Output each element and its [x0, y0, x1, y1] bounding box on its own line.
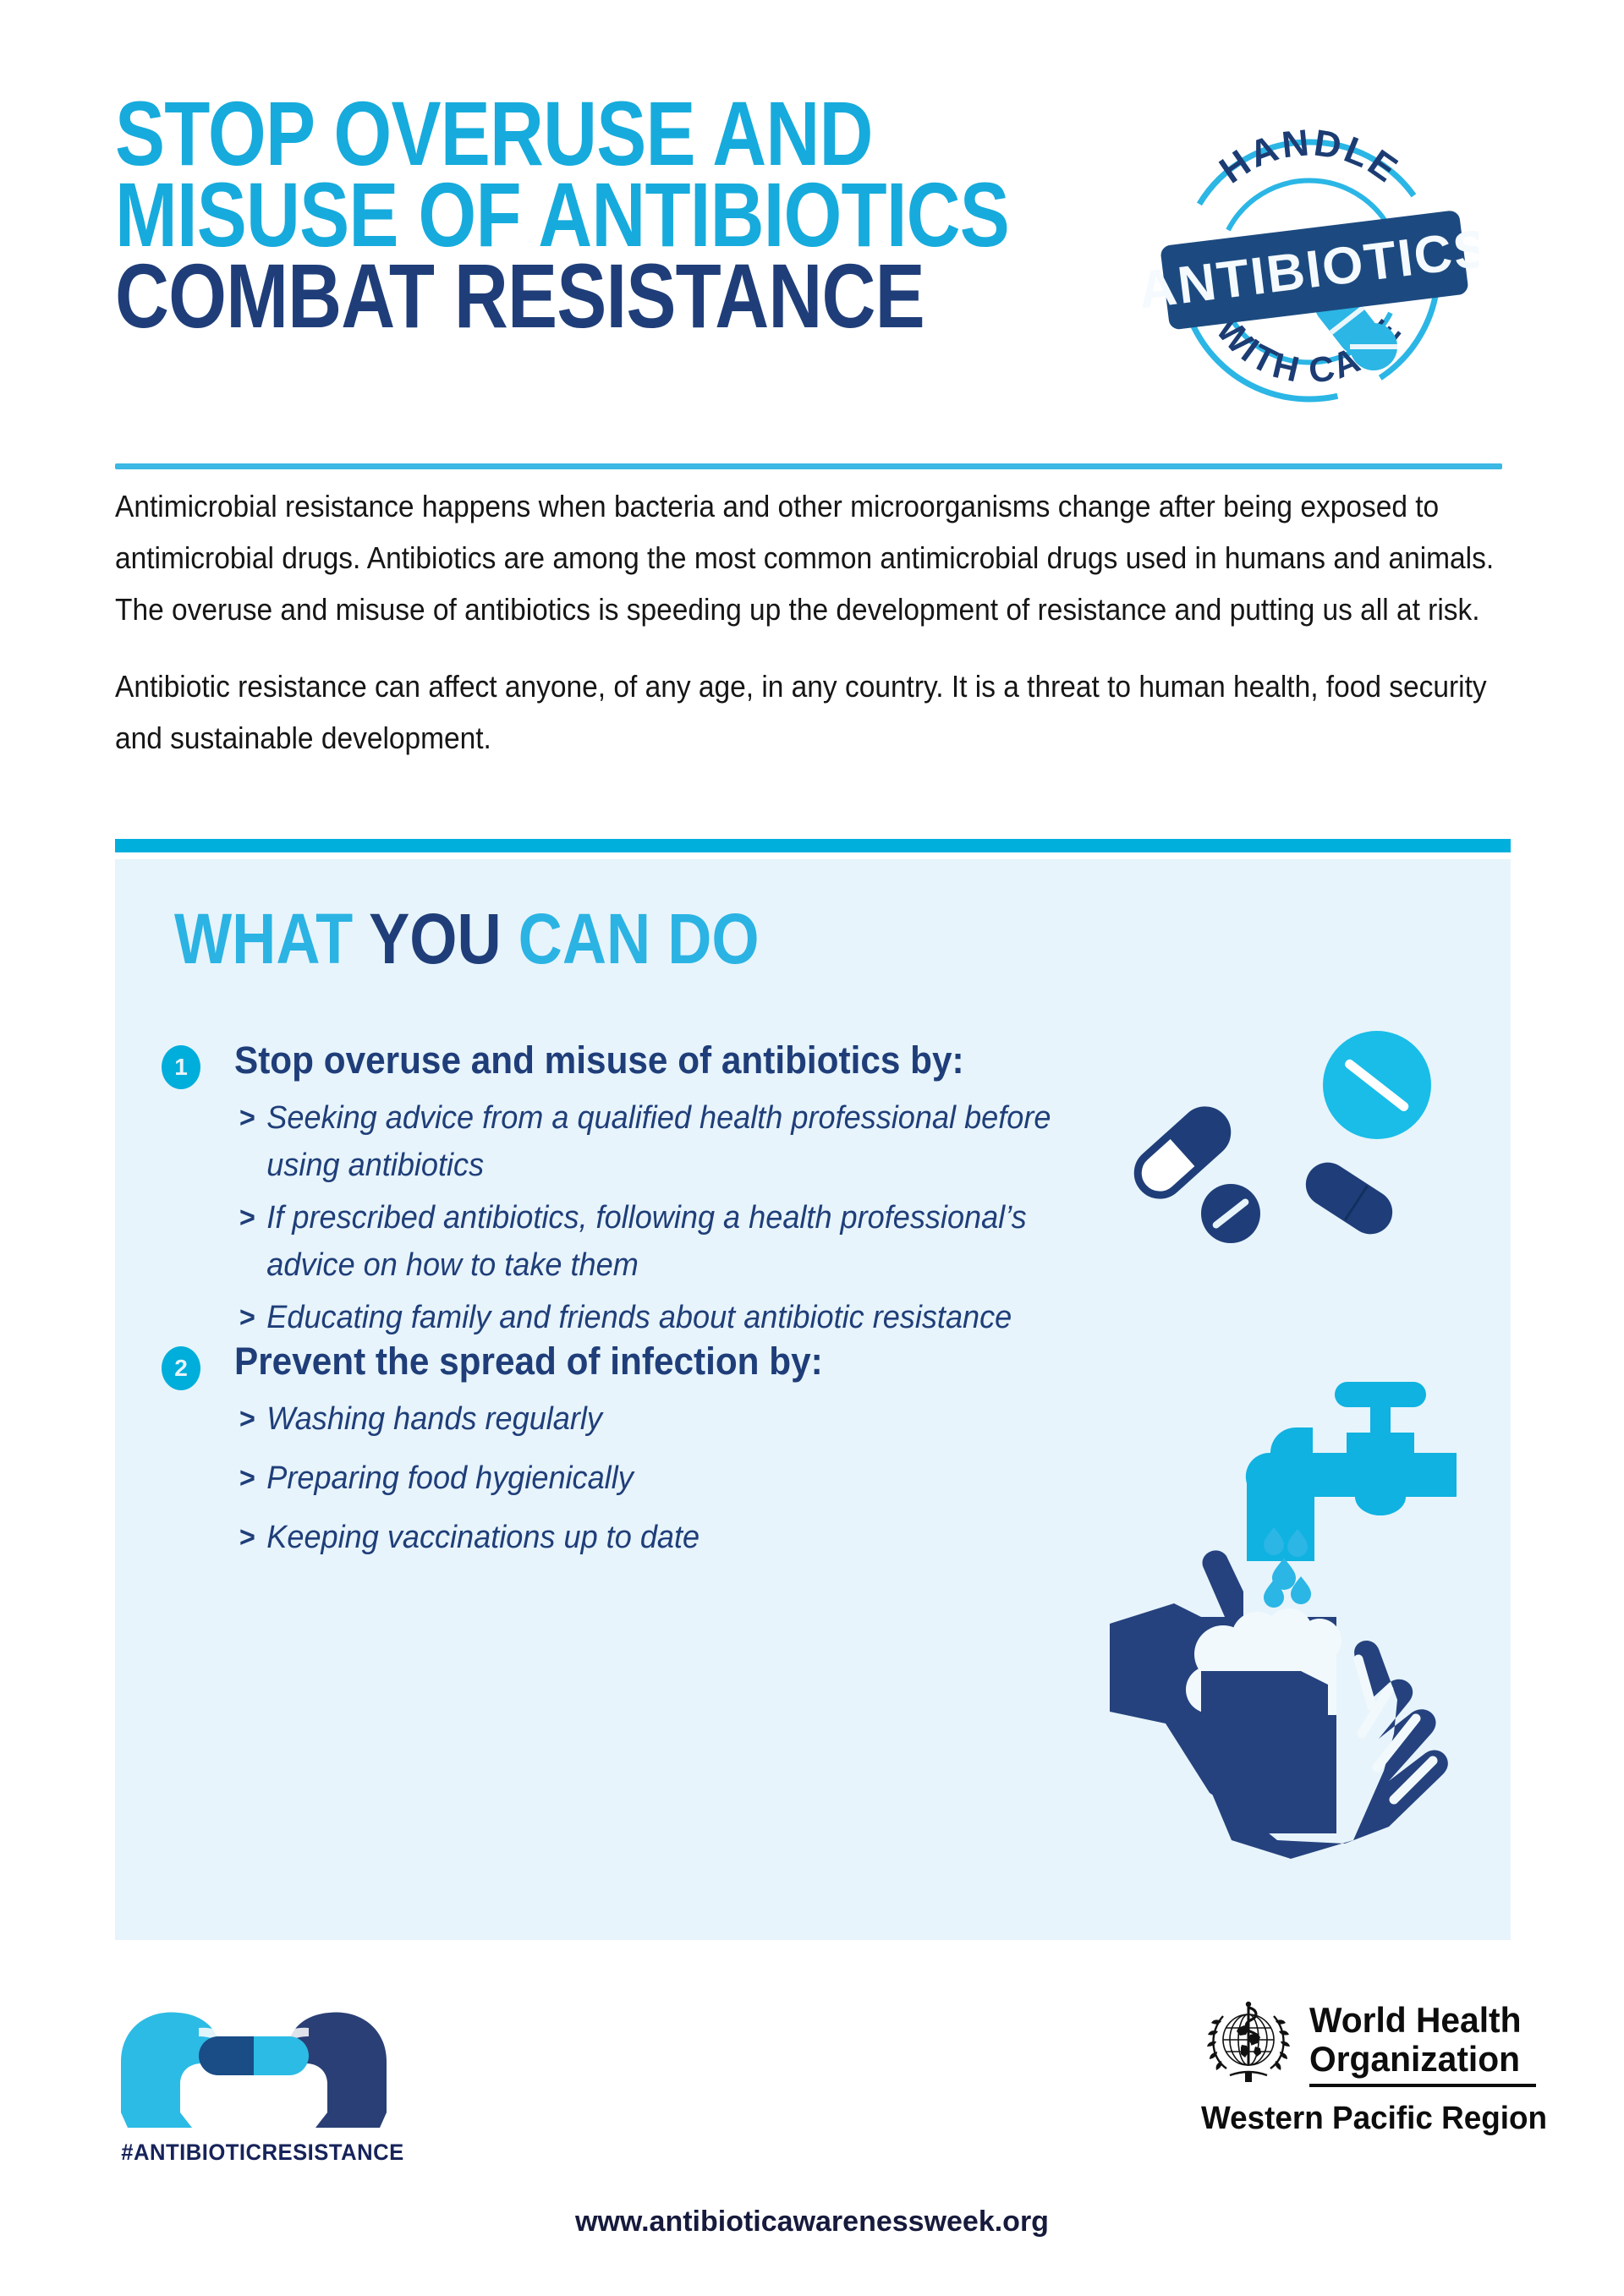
who-rule — [1309, 2084, 1536, 2087]
panel-heading: WHAT YOU CAN DO — [174, 903, 760, 974]
bullet-text: Keeping vaccinations up to date — [266, 1520, 700, 1555]
bullet-text: Washing hands regularly — [266, 1401, 602, 1437]
tablet-cyan-icon — [1323, 1031, 1431, 1139]
bullet-text: Preparing food hygienically — [266, 1460, 633, 1496]
bullet-text: Educating family and friends about antib… — [266, 1300, 1012, 1335]
list-item: >If prescribed antibiotics, following a … — [239, 1194, 1086, 1289]
step-2-bullet-list: >Washing hands regularly >Preparing food… — [239, 1395, 1007, 1561]
step-2: 2 Prevent the spread of infection by: >W… — [162, 1340, 1007, 1573]
capsule-dark-icon — [1298, 1154, 1401, 1243]
intro-paragraph-1: Antimicrobial resistance happens when ba… — [115, 480, 1500, 635]
panel-heading-part-1: WHAT — [174, 899, 369, 978]
who-region-label: Western Pacific Region — [1201, 2101, 1513, 2136]
chevron-right-icon: > — [239, 1294, 255, 1341]
bullet-text: Seeking advice from a qualified health p… — [266, 1100, 1051, 1183]
who-line-2: Organization — [1309, 2040, 1529, 2079]
chevron-right-icon: > — [239, 1455, 255, 1502]
who-logo: World Health Organization Western Pacifi… — [1201, 1997, 1522, 2167]
panel-heading-part-2: YOU — [369, 899, 518, 978]
section-divider-bar — [115, 839, 1511, 852]
panel-heading-part-3: CAN DO — [518, 899, 760, 978]
list-item: >Washing hands regularly — [239, 1395, 1086, 1443]
intro-text: Antimicrobial resistance happens when ba… — [115, 480, 1502, 789]
list-item: >Educating family and friends about anti… — [239, 1294, 1086, 1341]
list-item: >Keeping vaccinations up to date — [239, 1514, 1086, 1561]
poster-header: STOP OVERUSE AND MISUSE OF ANTIBIOTICS C… — [0, 0, 1624, 474]
who-line-1: World Health — [1309, 2001, 1529, 2040]
poster-title: STOP OVERUSE AND MISUSE OF ANTIBIOTICS C… — [115, 93, 1113, 337]
header-divider — [115, 463, 1502, 469]
tablet-dark-icon — [1201, 1184, 1260, 1243]
title-line-1: STOP OVERUSE AND — [115, 93, 934, 174]
intro-paragraph-2: Antibiotic resistance can affect anyone,… — [115, 660, 1500, 764]
who-emblem-icon — [1201, 1997, 1296, 2092]
poster-root: STOP OVERUSE AND MISUSE OF ANTIBIOTICS C… — [0, 0, 1624, 2296]
chevron-right-icon: > — [239, 1395, 255, 1443]
handle-with-care-badge: HANDLE WITH CARE — [1140, 95, 1479, 425]
footer-url: www.antibioticawarenessweek.org — [0, 2206, 1624, 2238]
handwashing-illustration — [1074, 1370, 1497, 1860]
title-line-3: COMBAT RESISTANCE — [115, 255, 934, 337]
chevron-right-icon: > — [239, 1094, 255, 1142]
title-line-2: MISUSE OF ANTIBIOTICS — [115, 174, 934, 255]
chevron-right-icon: > — [239, 1514, 255, 1561]
step-1-number: 1 — [162, 1045, 200, 1089]
step-2-number: 2 — [162, 1346, 200, 1390]
capsule-logo-icon — [199, 2036, 309, 2075]
pills-illustration — [1091, 1011, 1463, 1307]
chevron-right-icon: > — [239, 1194, 255, 1241]
step-1-bullet-list: >Seeking advice from a qualified health … — [239, 1094, 1007, 1341]
list-item: >Seeking advice from a qualified health … — [239, 1094, 1086, 1189]
step-2-heading: Prevent the spread of infection by: — [234, 1340, 961, 1384]
badge-tablet-icon — [1350, 323, 1397, 370]
hashtag-label: #ANTIBIOTICRESISTANCE — [121, 2140, 387, 2166]
step-1: 1 Stop overuse and misuse of antibiotics… — [162, 1038, 1007, 1346]
bullet-text: If prescribed antibiotics, following a h… — [266, 1200, 1026, 1283]
list-item: >Preparing food hygienically — [239, 1455, 1086, 1502]
antibiotic-resistance-logo: #ANTIBIOTICRESISTANCE — [114, 2003, 393, 2172]
step-1-heading: Stop overuse and misuse of antibiotics b… — [234, 1038, 961, 1082]
